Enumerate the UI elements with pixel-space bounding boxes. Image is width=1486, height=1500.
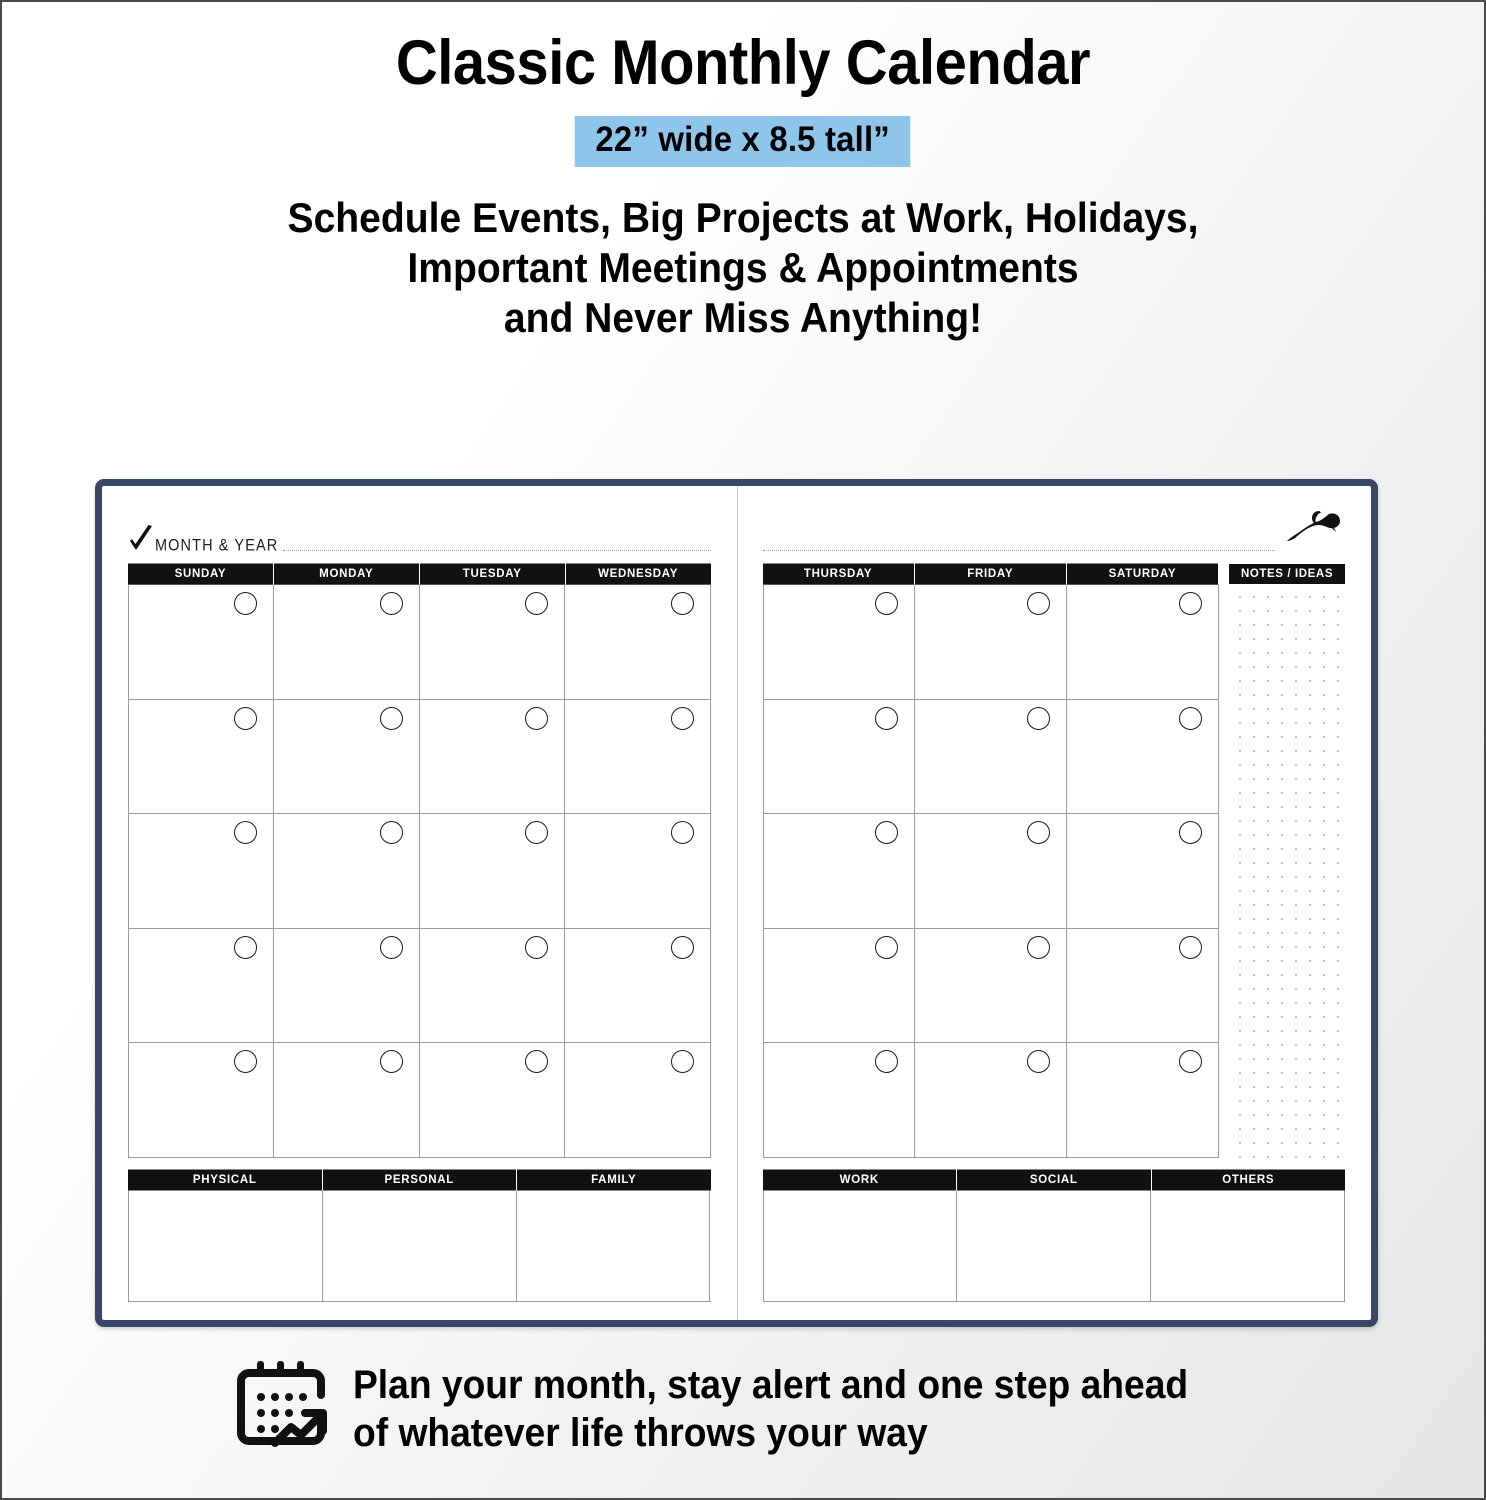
category-head-social: SOCIAL bbox=[957, 1170, 1152, 1191]
category-body-physical[interactable] bbox=[129, 1190, 323, 1301]
calendar-day-cell[interactable] bbox=[274, 700, 419, 815]
calendar-day-cell[interactable] bbox=[915, 814, 1067, 929]
date-number-circle[interactable] bbox=[234, 1050, 257, 1073]
date-number-circle[interactable] bbox=[671, 1050, 694, 1073]
calendar-day-cell[interactable] bbox=[129, 700, 274, 815]
top-tagline-line-1: Schedule Events, Big Projects at Work, H… bbox=[54, 193, 1432, 243]
calendar-day-cell[interactable] bbox=[274, 585, 419, 700]
calendar-day-cell[interactable] bbox=[764, 814, 916, 929]
date-number-circle[interactable] bbox=[1027, 936, 1050, 959]
category-head-others: OTHERS bbox=[1152, 1170, 1346, 1191]
date-number-circle[interactable] bbox=[875, 1050, 898, 1073]
calendar-left-page: MONTH & YEAR SUNDAY MONDAY TUESDAY WEDNE… bbox=[102, 486, 737, 1320]
date-number-circle[interactable] bbox=[234, 707, 257, 730]
date-number-circle[interactable] bbox=[1179, 936, 1202, 959]
date-number-circle[interactable] bbox=[1027, 707, 1050, 730]
category-body-work[interactable] bbox=[764, 1190, 958, 1301]
day-header-wednesday: WEDNESDAY bbox=[566, 564, 711, 585]
calendar-day-cell[interactable] bbox=[274, 929, 419, 1044]
date-number-circle[interactable] bbox=[875, 821, 898, 844]
product-listing-image: Classic Monthly Calendar 22” wide x 8.5 … bbox=[0, 0, 1486, 1500]
date-number-circle[interactable] bbox=[234, 936, 257, 959]
calendar-day-cell[interactable] bbox=[1067, 929, 1219, 1044]
calendar-day-cell[interactable] bbox=[129, 929, 274, 1044]
date-number-circle[interactable] bbox=[1179, 821, 1202, 844]
left-category-body-row bbox=[128, 1190, 711, 1302]
right-write-line[interactable] bbox=[763, 550, 1276, 551]
calendar-day-cell[interactable] bbox=[420, 585, 565, 700]
left-day-grid bbox=[128, 584, 711, 1158]
date-number-circle[interactable] bbox=[525, 592, 548, 615]
calendar-day-cell[interactable] bbox=[274, 814, 419, 929]
date-number-circle[interactable] bbox=[671, 936, 694, 959]
right-day-header-row: THURSDAY FRIDAY SATURDAY NOTES / IDEAS bbox=[763, 564, 1346, 584]
date-number-circle[interactable] bbox=[380, 936, 403, 959]
date-number-circle[interactable] bbox=[671, 592, 694, 615]
left-day-header-row: SUNDAY MONDAY TUESDAY WEDNESDAY bbox=[128, 564, 711, 584]
date-number-circle[interactable] bbox=[380, 821, 403, 844]
right-category-head-row: WORK SOCIAL OTHERS bbox=[763, 1170, 1346, 1190]
date-number-circle[interactable] bbox=[1027, 592, 1050, 615]
size-badge: 22” wide x 8.5 tall” bbox=[575, 116, 911, 167]
date-number-circle[interactable] bbox=[1179, 1050, 1202, 1073]
day-header-sunday: SUNDAY bbox=[128, 564, 274, 585]
category-body-social[interactable] bbox=[957, 1190, 1151, 1301]
category-head-personal: PERSONAL bbox=[323, 1170, 518, 1191]
day-header-friday: FRIDAY bbox=[915, 564, 1067, 585]
date-number-circle[interactable] bbox=[875, 592, 898, 615]
date-number-circle[interactable] bbox=[380, 707, 403, 730]
date-number-circle[interactable] bbox=[525, 821, 548, 844]
top-tagline-line-2: Important Meetings & Appointments bbox=[54, 243, 1432, 293]
footer-block: Plan your month, stay alert and one step… bbox=[2, 1359, 1484, 1460]
calendar-right-page: THURSDAY FRIDAY SATURDAY NOTES / IDEAS W… bbox=[737, 486, 1372, 1320]
calendar-day-cell[interactable] bbox=[565, 700, 710, 815]
left-category-block: PHYSICAL PERSONAL FAMILY bbox=[128, 1170, 711, 1302]
size-badge-wrap: 22” wide x 8.5 tall” bbox=[2, 116, 1484, 167]
day-header-monday: MONDAY bbox=[274, 564, 420, 585]
calendar-trend-up-icon bbox=[235, 1359, 327, 1460]
calendar-day-cell[interactable] bbox=[1067, 700, 1219, 815]
right-grid-area bbox=[763, 584, 1346, 1158]
date-number-circle[interactable] bbox=[1179, 592, 1202, 615]
page-title: Classic Monthly Calendar bbox=[61, 30, 1424, 96]
brand-logo bbox=[1275, 508, 1345, 554]
calendar-day-cell[interactable] bbox=[1067, 1043, 1219, 1158]
footer-tagline-line-2: of whatever life throws your way bbox=[353, 1410, 1188, 1457]
calendar-day-cell[interactable] bbox=[915, 929, 1067, 1044]
date-number-circle[interactable] bbox=[525, 707, 548, 730]
footer-tagline: Plan your month, stay alert and one step… bbox=[353, 1362, 1188, 1456]
calendar-day-cell[interactable] bbox=[764, 700, 916, 815]
category-body-family[interactable] bbox=[517, 1190, 711, 1301]
check-icon bbox=[128, 524, 154, 554]
calendar-day-cell[interactable] bbox=[420, 929, 565, 1044]
notes-ideas-header: NOTES / IDEAS bbox=[1229, 564, 1345, 584]
calendar-day-cell[interactable] bbox=[565, 814, 710, 929]
top-tagline-line-3: and Never Miss Anything! bbox=[54, 293, 1432, 343]
calendar-day-cell[interactable] bbox=[565, 929, 710, 1044]
left-grid-area bbox=[128, 584, 711, 1158]
calendar-day-cell[interactable] bbox=[1067, 814, 1219, 929]
calendar-day-cell[interactable] bbox=[274, 1043, 419, 1158]
calendar-day-cell[interactable] bbox=[764, 1043, 916, 1158]
month-year-label: MONTH & YEAR bbox=[155, 537, 278, 555]
header-block: Classic Monthly Calendar 22” wide x 8.5 … bbox=[2, 2, 1484, 343]
right-header-row bbox=[763, 508, 1346, 554]
calendar-day-cell[interactable] bbox=[764, 929, 916, 1044]
category-body-personal[interactable] bbox=[323, 1190, 517, 1301]
calendar-day-cell[interactable] bbox=[764, 585, 916, 700]
calendar-day-cell[interactable] bbox=[565, 585, 710, 700]
date-number-circle[interactable] bbox=[1179, 707, 1202, 730]
calendar-day-cell[interactable] bbox=[915, 700, 1067, 815]
right-category-body-row bbox=[763, 1190, 1346, 1302]
calendar-day-cell[interactable] bbox=[565, 1043, 710, 1158]
calendar-day-cell[interactable] bbox=[915, 585, 1067, 700]
date-number-circle[interactable] bbox=[234, 821, 257, 844]
calendar-day-cell[interactable] bbox=[420, 1043, 565, 1158]
date-number-circle[interactable] bbox=[380, 1050, 403, 1073]
calendar-day-cell[interactable] bbox=[1067, 585, 1219, 700]
day-header-thursday: THURSDAY bbox=[763, 564, 915, 585]
right-category-block: WORK SOCIAL OTHERS bbox=[763, 1170, 1346, 1302]
calendar-day-cell[interactable] bbox=[420, 814, 565, 929]
top-tagline: Schedule Events, Big Projects at Work, H… bbox=[54, 193, 1432, 343]
category-head-work: WORK bbox=[763, 1170, 958, 1191]
date-number-circle[interactable] bbox=[525, 1050, 548, 1073]
notes-ideas-dot-grid[interactable] bbox=[1229, 584, 1345, 1158]
month-year-row: MONTH & YEAR bbox=[128, 508, 711, 554]
date-number-circle[interactable] bbox=[671, 707, 694, 730]
category-head-physical: PHYSICAL bbox=[128, 1170, 323, 1191]
date-number-circle[interactable] bbox=[1027, 1050, 1050, 1073]
date-number-circle[interactable] bbox=[380, 592, 403, 615]
date-number-circle[interactable] bbox=[875, 936, 898, 959]
right-day-grid bbox=[763, 584, 1220, 1158]
date-number-circle[interactable] bbox=[671, 821, 694, 844]
date-number-circle[interactable] bbox=[1027, 821, 1050, 844]
calendar-day-cell[interactable] bbox=[129, 585, 274, 700]
calendar-preview: MONTH & YEAR SUNDAY MONDAY TUESDAY WEDNE… bbox=[95, 479, 1378, 1327]
month-year-write-line[interactable] bbox=[283, 550, 710, 551]
category-head-family: FAMILY bbox=[517, 1170, 711, 1191]
calendar-day-cell[interactable] bbox=[129, 1043, 274, 1158]
category-body-others[interactable] bbox=[1151, 1190, 1345, 1301]
leaping-animal-logo-icon bbox=[1285, 508, 1343, 548]
date-number-circle[interactable] bbox=[525, 936, 548, 959]
day-header-saturday: SATURDAY bbox=[1067, 564, 1219, 585]
calendar-day-cell[interactable] bbox=[420, 700, 565, 815]
date-number-circle[interactable] bbox=[875, 707, 898, 730]
footer-tagline-line-1: Plan your month, stay alert and one step… bbox=[353, 1362, 1188, 1409]
date-number-circle[interactable] bbox=[234, 592, 257, 615]
calendar-day-cell[interactable] bbox=[129, 814, 274, 929]
calendar-day-cell[interactable] bbox=[915, 1043, 1067, 1158]
day-header-tuesday: TUESDAY bbox=[420, 564, 566, 585]
left-category-head-row: PHYSICAL PERSONAL FAMILY bbox=[128, 1170, 711, 1190]
